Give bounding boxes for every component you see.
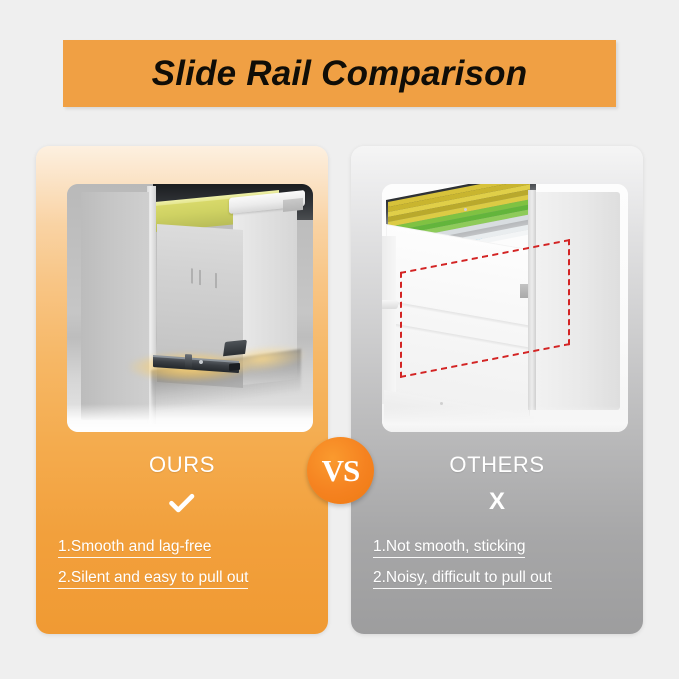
list-item: 1.Smooth and lag-free [58,538,211,558]
list-item: 2.Silent and easy to pull out [58,569,248,589]
ours-slide-rail-hole [229,363,240,371]
others-product-photo [382,184,628,432]
ours-slide-rail-clip [185,354,192,368]
title-banner: Slide Rail Comparison [63,40,616,107]
others-drawer-left-face [382,236,396,404]
ours-scene [67,184,313,432]
ours-heading: OURS [36,452,328,478]
ours-check-mark [36,490,328,514]
others-scene [382,184,628,432]
ours-cabinet-body [81,192,149,420]
list-item: 1.Not smooth, sticking [373,538,525,558]
list-item: 2.Noisy, difficult to pull out [373,569,552,589]
vs-label: VS [322,455,360,486]
cross-icon: X [489,488,505,515]
ours-drawer-handle-notch [283,198,303,212]
others-heading: OTHERS [351,452,643,478]
others-bullet-list: 1.Not smooth, sticking 2.Noisy, difficul… [373,538,629,600]
ours-bullet-list: 1.Smooth and lag-free 2.Silent and easy … [58,538,314,600]
vs-badge: VS [307,437,374,504]
others-floor-highlight [382,406,628,432]
ours-vent-slot [191,268,193,283]
ours-vent-slot [199,270,201,285]
others-screw [440,402,443,405]
check-icon [169,488,195,515]
ours-vent-slot [215,273,217,288]
ours-slide-rail-screw [199,360,203,364]
page-title: Slide Rail Comparison [152,54,528,94]
ours-slide-rail-bracket [223,340,247,357]
ours-product-photo [67,184,313,432]
ours-floor-highlight [67,404,313,432]
others-screw [464,208,467,211]
comparison-panel-ours: OURS 1.Smooth and lag-free 2.Silent and … [36,146,328,634]
comparison-panel-others: OTHERS X 1.Not smooth, sticking 2.Noisy,… [351,146,643,634]
others-cross-mark: X [351,490,643,514]
others-drawer-knob [382,300,398,309]
